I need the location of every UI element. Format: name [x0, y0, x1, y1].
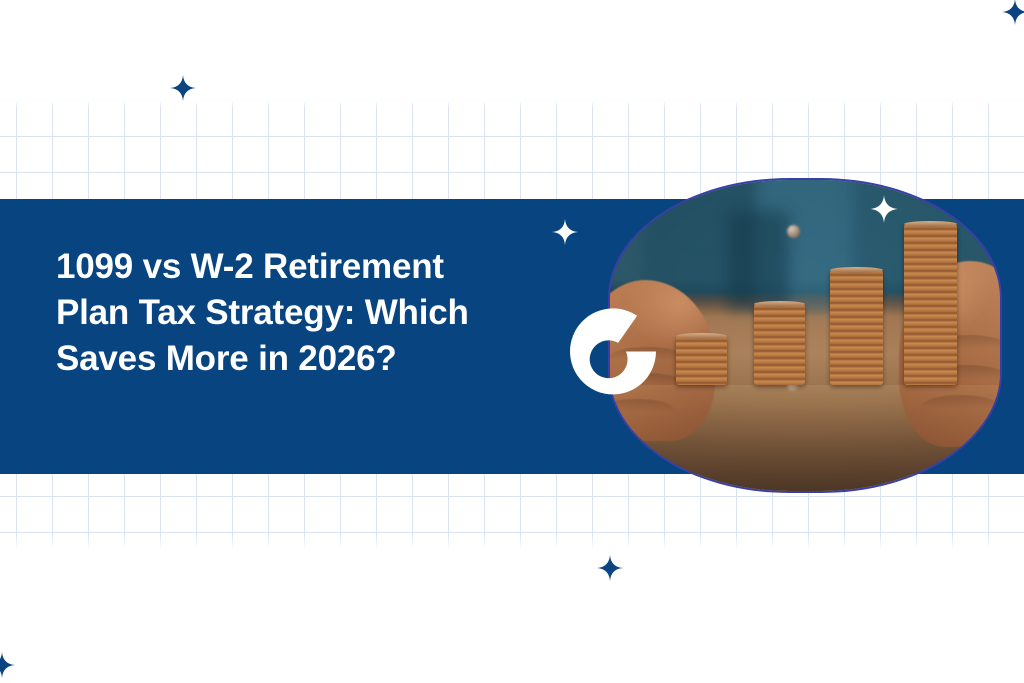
- grid-fade-bottom: [0, 534, 1024, 560]
- page-title: 1099 vs W-2 Retirement Plan Tax Strategy…: [56, 244, 576, 383]
- hero-graphic: 1099 vs W-2 Retirement Plan Tax Strategy…: [0, 0, 1024, 683]
- coins-stacked-photo: [610, 180, 1000, 491]
- coin-stack: [904, 224, 957, 386]
- sparkle-icon-banner: [552, 219, 578, 245]
- page-title-line-3: Saves More in 2026?: [56, 336, 576, 382]
- sparkle-icon-top-right: [1002, 0, 1024, 25]
- page-title-line-1: 1099 vs W-2 Retirement: [56, 244, 576, 290]
- page-title-line-2: Plan Tax Strategy: Which: [56, 290, 576, 336]
- sparkle-icon-top-left: [170, 75, 196, 101]
- grid-fade-top: [0, 100, 1024, 108]
- coin-stack: [830, 270, 883, 385]
- table-reflection: [610, 385, 1000, 491]
- brand-c-ring-logo: [570, 308, 656, 395]
- coin-stack: [754, 304, 805, 385]
- sparkle-icon-bottom-center: [597, 555, 623, 581]
- photo-bg-panel: [727, 211, 789, 311]
- coin-stack: [676, 336, 727, 386]
- photo-image: [610, 180, 1000, 491]
- sparkle-icon-bottom-left: [0, 652, 15, 678]
- photo-sparkle-icon: [870, 195, 898, 223]
